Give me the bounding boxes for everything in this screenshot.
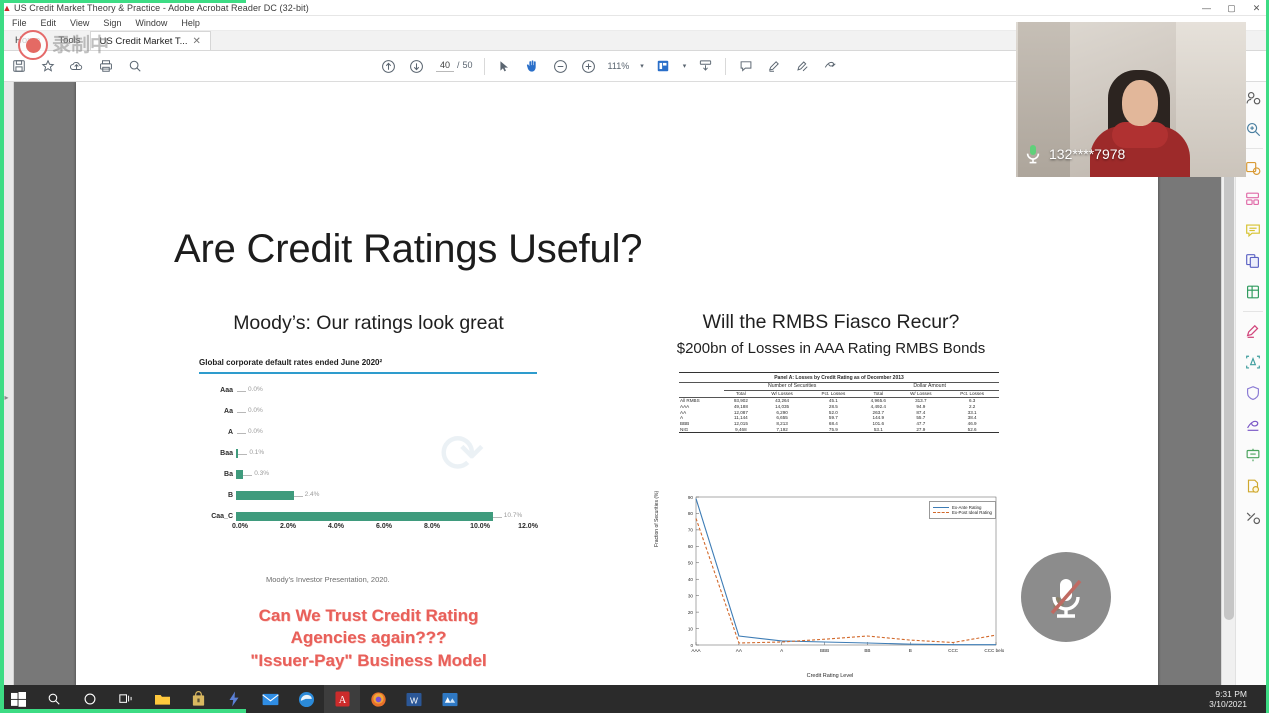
- zoom-in-icon[interactable]: [580, 58, 597, 75]
- draw-icon[interactable]: [793, 58, 810, 75]
- legend-swatch-dashed: [933, 512, 949, 513]
- window-title: US Credit Market Theory & Practice - Ado…: [14, 3, 309, 13]
- upload-to-cloud-icon[interactable]: [68, 58, 85, 75]
- webcam-person-face: [1122, 80, 1158, 126]
- left-column-heading: Moody’s: Our ratings look great: [196, 312, 541, 335]
- bar-leader-line: [237, 391, 246, 392]
- bar-value-label: 0.1%: [249, 449, 264, 456]
- bar-leader-line: [243, 475, 252, 476]
- word-icon[interactable]: W: [396, 685, 432, 713]
- participant-name: 132****7978: [1049, 146, 1125, 162]
- group-header-dollars: Dollar Amount: [860, 383, 999, 391]
- screenshare-border-left: [0, 0, 4, 713]
- menu-edit[interactable]: Edit: [34, 18, 64, 28]
- bar-category-label: Caa_C: [196, 513, 236, 520]
- svg-text:W: W: [410, 695, 418, 705]
- table-column-header: Total: [860, 390, 896, 397]
- total-pages: 50: [463, 60, 473, 70]
- pdf-page: Are Credit Ratings Useful? Moody’s: Our …: [76, 82, 1158, 687]
- combine-files-icon[interactable]: [1241, 249, 1265, 273]
- bar-row: Aa0.0%: [196, 406, 524, 417]
- y-axis-label: Fraction of Securities (%): [654, 491, 660, 547]
- menu-help[interactable]: Help: [174, 18, 207, 28]
- table-caption: Panel A: Losses by Credit Rating as of D…: [679, 373, 999, 383]
- chart-title: Global corporate default rates ended Jun…: [199, 358, 382, 367]
- toolbar-divider: [484, 58, 485, 75]
- legend-label-ex-ante: Ex-Ante Rating: [952, 505, 982, 510]
- bar-category-label: Ba: [196, 471, 236, 478]
- table-row: NIG9,4687,19275.953.127.952.6: [679, 426, 999, 432]
- table-column-header: Pct. Losses: [945, 390, 999, 397]
- firefox-icon[interactable]: [360, 685, 396, 713]
- x-tick-label: 4.0%: [328, 523, 344, 530]
- bar-category-label: Aaa: [196, 387, 236, 394]
- table-column-header: W/ Losses: [896, 390, 945, 397]
- moodys-source: Moody’s Investor Presentation, 2020.: [266, 575, 390, 584]
- x-tick-label: 2.0%: [280, 523, 296, 530]
- more-tools-icon[interactable]: [1241, 505, 1265, 529]
- table-column-header: W/ Losses: [758, 390, 807, 397]
- x-tick-label: 8.0%: [424, 523, 440, 530]
- select-tool-icon[interactable]: [496, 58, 513, 75]
- page-down-icon[interactable]: [408, 58, 425, 75]
- red-line-2: Agencies again???: [196, 627, 541, 649]
- page-up-icon[interactable]: [380, 58, 397, 75]
- chart-title-rule: [199, 372, 537, 374]
- y-tick-label: 10: [688, 626, 694, 631]
- compress-pdf-icon[interactable]: [1241, 443, 1265, 467]
- bar-row: B2.4%: [196, 490, 524, 501]
- table-cell: 27.9: [896, 426, 945, 432]
- x-axis-ticks: 0.0%2.0%4.0%6.0%8.0%10.0%12.0%: [240, 523, 528, 535]
- table-row-label: NIG: [679, 426, 724, 432]
- x-tick-label: AA: [736, 648, 743, 653]
- chevron-down-icon-fit[interactable]: ▾: [683, 62, 687, 70]
- page-title: Are Credit Ratings Useful?: [174, 227, 642, 272]
- scroll-mode-icon[interactable]: [697, 58, 714, 75]
- bar-value-label: 10.7%: [504, 512, 522, 519]
- table-column-header: Total: [724, 390, 757, 397]
- x-tick-label: AAA: [691, 648, 701, 653]
- y-tick-label: 90: [688, 495, 694, 500]
- bar-value-label: 0.0%: [248, 386, 263, 393]
- table-header-row: TotalW/ LossesPct. LossesTotalW/ LossesP…: [679, 390, 999, 397]
- export-to-excel-icon[interactable]: [1241, 280, 1265, 304]
- screenshare-border-bottom: [0, 709, 246, 713]
- x-axis-label: Credit Rating Level: [656, 673, 1004, 679]
- sign-icon[interactable]: [1241, 412, 1265, 436]
- bar-track: 2.4%: [236, 490, 524, 501]
- rmbs-line-chart: 0102030405060708090AAAAAABBBBBBCCCCCC be…: [656, 487, 1004, 687]
- bar-value-label: 0.0%: [248, 428, 263, 435]
- y-tick-label: 50: [688, 561, 694, 566]
- x-tick-label: 0.0%: [232, 523, 248, 530]
- legend-swatch-solid: [933, 507, 949, 508]
- rail-divider-2: [1243, 311, 1263, 312]
- fill-and-sign-icon[interactable]: [821, 58, 838, 75]
- x-tick-label: BBB: [820, 648, 829, 653]
- y-tick-label: 60: [688, 544, 694, 549]
- tab-document-label: US Credit Market T...: [100, 36, 188, 47]
- bar-track: 0.0%: [236, 427, 524, 438]
- maximize-button[interactable]: ▢: [1219, 0, 1244, 16]
- bar-category-label: B: [196, 492, 236, 499]
- table-cell: 53.1: [860, 426, 896, 432]
- x-tick-label: A: [780, 648, 784, 653]
- webcam-tile[interactable]: 132****7978: [1016, 22, 1246, 177]
- table-cell: 7,192: [758, 426, 807, 432]
- red-line-1: Can We Trust Credit Rating: [196, 605, 541, 627]
- x-tick-label: 12.0%: [518, 523, 538, 530]
- chart-frame: [696, 497, 996, 645]
- y-tick-label: 20: [688, 610, 694, 615]
- panel-a-table: Panel A: Losses by Credit Rating as of D…: [679, 372, 999, 470]
- clock-date: 3/10/2021: [1209, 699, 1247, 709]
- legend-label-ex-post: Ex-Post Ideal Rating: [952, 510, 992, 515]
- bar-category-label: Baa: [196, 450, 236, 457]
- comment-tool-icon[interactable]: [1241, 218, 1265, 242]
- screenshare-border-top: [0, 0, 246, 3]
- microphone-icon: [1024, 143, 1042, 165]
- bar-row: Aaa0.0%: [196, 385, 524, 396]
- menu-view[interactable]: View: [63, 18, 96, 28]
- x-tick-label: 10.0%: [470, 523, 490, 530]
- bar-track: 10.7%: [236, 511, 524, 522]
- bar-track: 0.0%: [236, 406, 524, 417]
- search-icon[interactable]: [126, 58, 143, 75]
- moodys-bar-chart: Global corporate default rates ended Jun…: [196, 355, 541, 558]
- close-icon[interactable]: ✕: [193, 36, 201, 47]
- organize-pages-icon[interactable]: [1241, 187, 1265, 211]
- highlight-icon[interactable]: [765, 58, 782, 75]
- recording-indicator: [18, 30, 48, 60]
- x-tick-label: CCC: [948, 648, 959, 653]
- bar-track: 0.3%: [236, 469, 524, 480]
- recording-label: 录制中: [52, 30, 109, 57]
- bar-category-label: A: [196, 429, 236, 436]
- bar: [236, 470, 243, 479]
- acrobat-icon[interactable]: A: [324, 685, 360, 713]
- x-tick-label: BB: [864, 648, 870, 653]
- losses-table: Panel A: Losses by Credit Rating as of D…: [679, 372, 999, 433]
- edit-pdf-icon[interactable]: [1241, 319, 1265, 343]
- x-tick-label: 6.0%: [376, 523, 392, 530]
- clock-time: 9:31 PM: [1215, 689, 1247, 699]
- send-for-comments-icon[interactable]: [1241, 474, 1265, 498]
- menu-file[interactable]: File: [5, 18, 34, 28]
- x-tick-label: CCC below: [984, 648, 1004, 653]
- table-body: All RMBS93,90243,26445.14,965.6313.76.3A…: [679, 397, 999, 433]
- bar-leader-line: [294, 496, 303, 497]
- bar-value-label: 2.4%: [305, 491, 320, 498]
- bar-category-label: Aa: [196, 408, 236, 415]
- bar-value-label: 0.3%: [254, 470, 269, 477]
- zoom-level[interactable]: 111%: [608, 61, 630, 71]
- add-to-favorites-icon[interactable]: [39, 58, 56, 75]
- bar-leader-line: [238, 454, 247, 455]
- mail-icon[interactable]: [252, 685, 288, 713]
- edge-icon[interactable]: [288, 685, 324, 713]
- meeting-icon[interactable]: [432, 685, 468, 713]
- right-column-heading: Will the RMBS Fiasco Recur?: [616, 311, 1046, 334]
- chevron-down-icon[interactable]: ▾: [640, 62, 644, 70]
- microphone-muted-icon: [1044, 573, 1088, 621]
- bar-leader-line: [237, 433, 246, 434]
- zoom-out-icon[interactable]: [552, 58, 569, 75]
- y-tick-label: 80: [688, 511, 694, 516]
- bar-leader-line: [493, 517, 502, 518]
- red-callout-text: Can We Trust Credit Rating Agencies agai…: [196, 605, 541, 672]
- scrollbar-thumb[interactable]: [1224, 110, 1234, 620]
- table-cell: 9,468: [724, 426, 757, 432]
- legend-item-ex-ante: Ex-Ante Rating: [933, 505, 992, 510]
- menu-window[interactable]: Window: [128, 18, 174, 28]
- save-icon[interactable]: [10, 58, 27, 75]
- legend-item-ex-post: Ex-Post Ideal Rating: [933, 510, 992, 515]
- table-cell: 75.9: [807, 426, 861, 432]
- minimize-button[interactable]: —: [1194, 0, 1219, 16]
- bar-track: 0.0%: [236, 385, 524, 396]
- adobe-scan-icon[interactable]: [1241, 350, 1265, 374]
- page-separator: /: [457, 60, 460, 70]
- x-tick-label: B: [909, 648, 912, 653]
- y-tick-label: 30: [688, 593, 694, 598]
- mute-button[interactable]: [1021, 552, 1111, 642]
- toolbar-divider-2: [725, 58, 726, 75]
- participant-label: 132****7978: [1024, 143, 1125, 165]
- window-controls: — ▢ ✕: [1194, 0, 1269, 16]
- svg-text:A: A: [338, 695, 346, 706]
- table-column-header: [679, 390, 724, 397]
- bar-track: 0.1%: [236, 448, 524, 459]
- chart-legend: Ex-Ante Rating Ex-Post Ideal Rating: [929, 501, 996, 519]
- group-header-securities: Number of Securities: [724, 383, 860, 391]
- red-line-3: "Issuer-Pay" Business Model: [196, 650, 541, 672]
- line-series: [696, 518, 996, 643]
- current-page-input[interactable]: 40: [436, 60, 454, 72]
- y-tick-label: 40: [688, 577, 694, 582]
- bar-leader-line: [237, 412, 246, 413]
- bar-row: Baa0.1%: [196, 448, 524, 459]
- menu-sign[interactable]: Sign: [96, 18, 128, 28]
- bar: [236, 512, 493, 521]
- bar: [236, 491, 294, 500]
- bar-row: Ba0.3%: [196, 469, 524, 480]
- bar-row: Caa_C10.7%: [196, 511, 524, 522]
- hand-tool-icon[interactable]: [524, 58, 541, 75]
- table-column-header: Pct. Losses: [807, 390, 861, 397]
- slide-content: Are Credit Ratings Useful? Moody’s: Our …: [76, 82, 1158, 687]
- bar-value-label: 0.0%: [248, 407, 263, 414]
- page-indicator: 40 / 50: [436, 60, 473, 72]
- line-series: [696, 499, 996, 645]
- fit-page-icon[interactable]: [655, 58, 672, 75]
- system-clock[interactable]: 9:31 PM 3/10/2021: [1209, 685, 1247, 713]
- right-column-subheading: $200bn of Losses in AAA Rating RMBS Bond…: [616, 340, 1046, 357]
- record-dot-icon: [26, 38, 41, 53]
- y-tick-label: 70: [688, 528, 694, 533]
- bar-row: A0.0%: [196, 427, 524, 438]
- table-cell: 52.6: [945, 426, 999, 432]
- print-icon[interactable]: [97, 58, 114, 75]
- protect-icon[interactable]: [1241, 381, 1265, 405]
- comment-icon[interactable]: [737, 58, 754, 75]
